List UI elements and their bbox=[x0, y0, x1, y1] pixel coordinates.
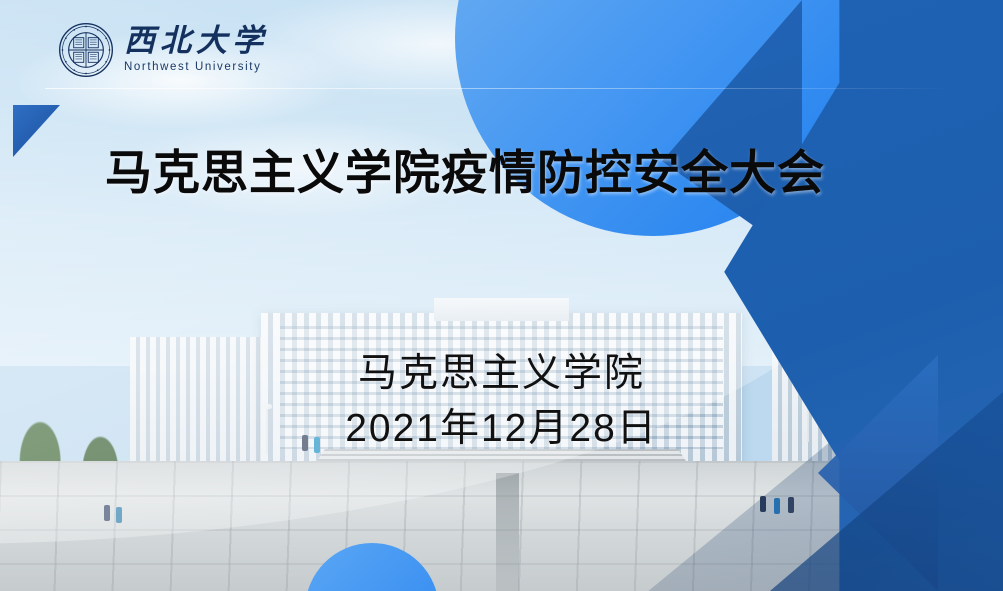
slide-subtitle-block: 马克思主义学院 2021年12月28日 bbox=[0, 346, 1003, 457]
presentation-slide: 西北大学 Northwest University 马克思主义学院疫情防控安全大… bbox=[0, 0, 1003, 591]
slide-title: 马克思主义学院疫情防控安全大会 bbox=[0, 134, 930, 203]
slide-subtitle: 马克思主义学院 bbox=[0, 346, 1003, 401]
person-figure bbox=[116, 507, 122, 523]
header-divider bbox=[45, 88, 955, 89]
university-name-lockup: 西北大学 Northwest University bbox=[124, 26, 268, 74]
university-seal-icon bbox=[58, 22, 114, 78]
university-logo: 西北大学 Northwest University bbox=[58, 22, 268, 78]
plaza-center-walkway bbox=[496, 473, 518, 591]
university-name-en: Northwest University bbox=[124, 62, 268, 74]
university-name-cn: 西北大学 bbox=[124, 26, 268, 57]
slide-date: 2021年12月28日 bbox=[0, 401, 1003, 456]
person-figure bbox=[104, 505, 110, 521]
